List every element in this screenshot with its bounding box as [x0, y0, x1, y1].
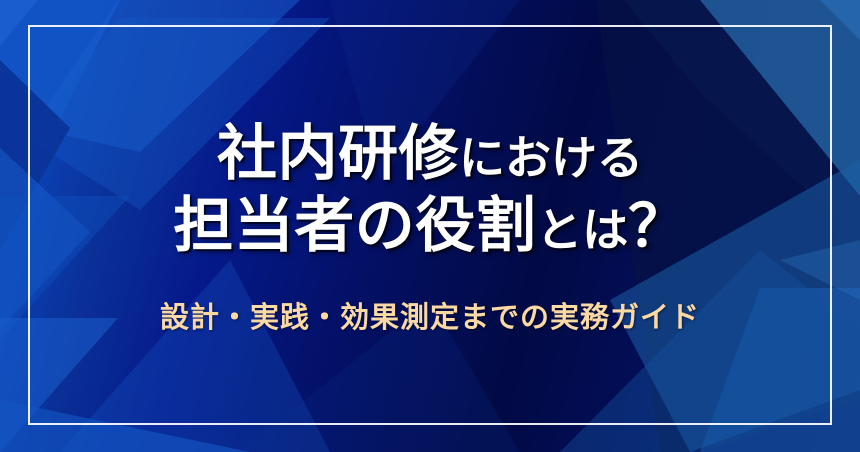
title-line1-kana: における — [459, 132, 643, 184]
title-line2-kanji-a: 担当者 — [173, 192, 355, 259]
title-line-1: 社内研修における — [173, 120, 687, 188]
page-title: 社内研修における 担当者の役割とは？ — [173, 120, 687, 260]
title-line2-kana-a: の — [355, 192, 416, 259]
content-area: 社内研修における 担当者の役割とは？ 設計・実践・効果測定までの実務ガイド — [0, 0, 860, 452]
title-line1-kanji: 社内研修 — [217, 120, 459, 187]
title-question-mark: ？ — [628, 194, 687, 259]
title-line-2: 担当者の役割とは？ — [173, 192, 687, 260]
title-line2-kana-b: とは — [536, 204, 628, 256]
title-line2-kanji-b: 役割 — [415, 192, 536, 259]
title-banner: 社内研修における 担当者の役割とは？ 設計・実践・効果測定までの実務ガイド — [0, 0, 860, 452]
page-subtitle: 設計・実践・効果測定までの実務ガイド — [160, 294, 700, 336]
